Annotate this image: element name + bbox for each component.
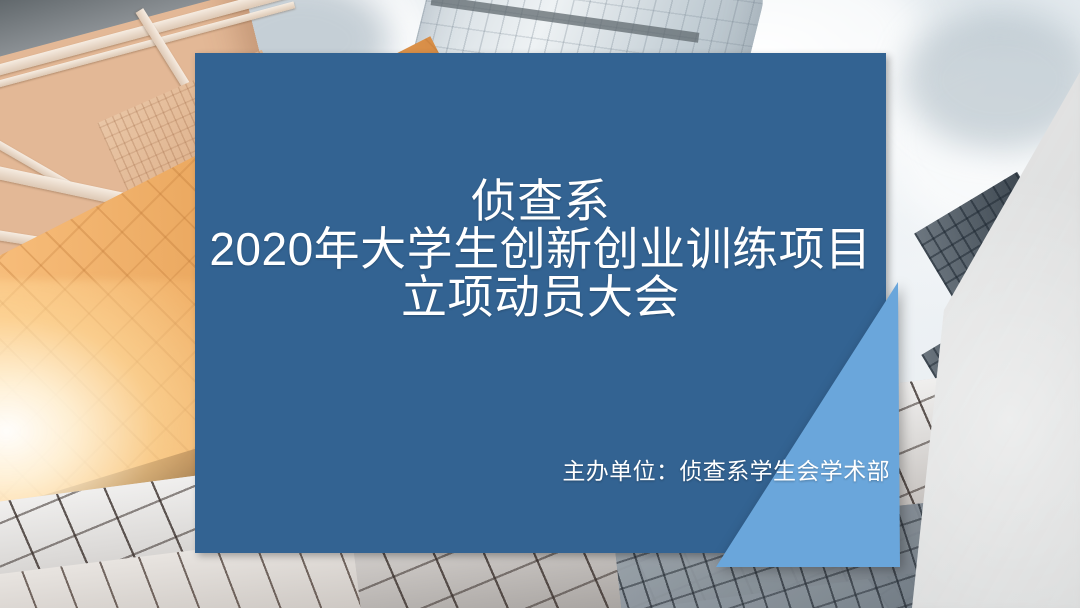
- title-line-1: 侦查系: [195, 178, 886, 226]
- title-line-3: 立项动员大会: [195, 274, 886, 322]
- organizer-subtitle: 主办单位：侦查系学生会学术部: [300, 452, 890, 486]
- page-title: 侦查系 2020年大学生创新创业训练项目 立项动员大会: [195, 178, 886, 321]
- presentation-slide: 侦查系 2020年大学生创新创业训练项目 立项动员大会 主办单位：侦查系学生会学…: [0, 0, 1080, 608]
- title-line-2: 2020年大学生创新创业训练项目: [195, 226, 886, 274]
